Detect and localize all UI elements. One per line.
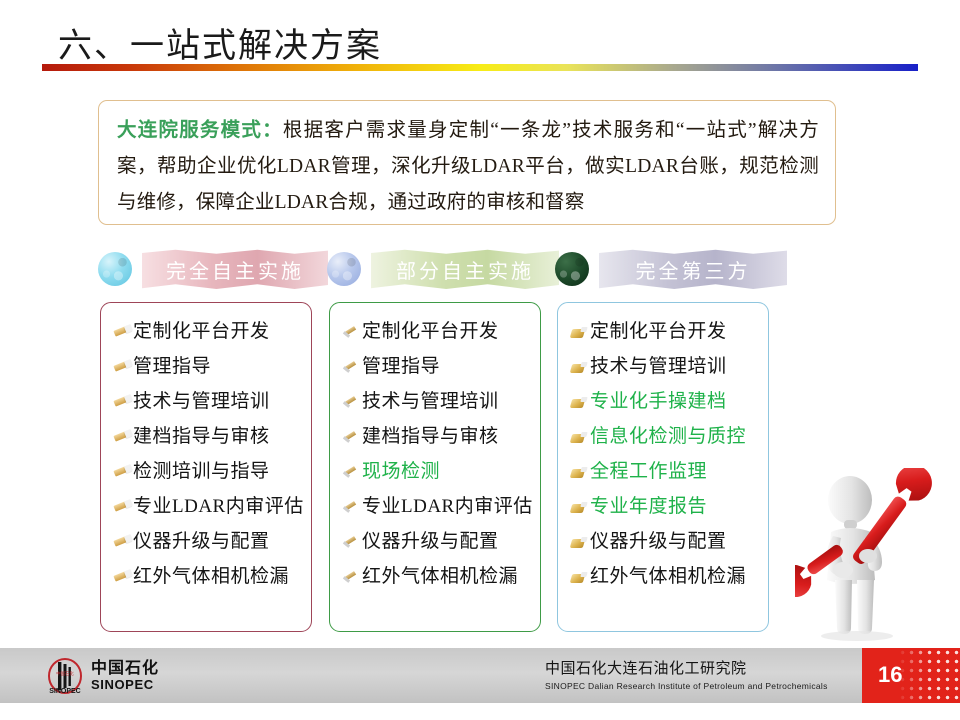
list-item-label: 建档指导与审核 [133,424,270,450]
logo-cn-label: 中国石化 [91,661,159,678]
dark-green-sphere-icon [555,252,589,286]
gold-block-icon [568,463,590,485]
list-item: 检测培训与指导 [111,459,303,494]
check-icon [340,533,362,555]
list-item: 专业LDAR内审评估 [340,494,532,529]
list-item-label: 建档指导与审核 [362,424,499,450]
list-item: 信息化检测与质控 [568,424,760,459]
sinopec-logo: 中国石化 SINOPEC 中国石化 SINOPEC [46,656,159,696]
gold-block-icon [568,533,590,555]
list-item: 仪器升级与配置 [568,529,760,564]
svg-text:中国石化: 中国石化 [56,670,74,677]
list-item: 专业化手操建档 [568,389,760,424]
list-item-label: 定制化平台开发 [133,319,270,345]
pencil-icon [111,393,133,415]
pencil-icon [111,568,133,590]
list-item-label: 管理指导 [133,354,211,380]
check-icon [340,568,362,590]
pencil-icon [111,323,133,345]
list-item: 红外气体相机检漏 [568,564,760,599]
banner-label-3: 完全第三方 [599,249,787,289]
list-item: 专业LDAR内审评估 [111,494,303,529]
service-model-callout: 大连院服务模式：根据客户需求量身定制“一条龙”技术服务和“一站式”解决方案，帮助… [98,100,836,225]
list-item-label: 仪器升级与配置 [590,529,727,555]
pencil-icon [111,358,133,380]
column-header-3: 完全第三方 [555,246,787,292]
list-item-label-highlight: 现场检测 [362,459,440,485]
list-item: 技术与管理培训 [568,354,760,389]
mannequin-with-wrench-illustration [795,468,935,643]
list-item: 仪器升级与配置 [340,529,532,564]
list-item-label: 红外气体相机检漏 [133,564,289,590]
callout-paragraph: 大连院服务模式：根据客户需求量身定制“一条龙”技术服务和“一站式”解决方案，帮助… [117,113,819,221]
institute-en-label: SINOPEC Dalian Research Institute of Pet… [545,681,828,691]
gold-block-icon [568,393,590,415]
page-number: 16 [878,662,902,688]
banner-label-2: 部分自主实施 [371,249,559,289]
list-item: 定制化平台开发 [568,319,760,354]
list-item: 管理指导 [111,354,303,389]
service-list-box-2: 定制化平台开发 管理指导 技术与管理培训 建档指导与审核 现场检测 专业LDAR… [329,302,541,632]
list-item: 建档指导与审核 [340,424,532,459]
halftone-dots-pattern [898,648,960,703]
callout-lead-label: 大连院服务模式： [117,120,283,141]
list-item-label: 专业LDAR内审评估 [133,494,304,520]
cyan-sphere-icon [98,252,132,286]
list-item-label: 管理指导 [362,354,440,380]
pencil-icon [111,463,133,485]
slide-header: 六、一站式解决方案 [0,0,960,80]
list-item-label-highlight: 专业年度报告 [590,494,707,520]
sinopec-emblem-icon: 中国石化 SINOPEC [46,656,84,696]
page-title: 六、一站式解决方案 [58,18,382,67]
institute-cn-label: 中国石化大连石油化工研究院 [545,657,828,678]
list-item-label: 仪器升级与配置 [362,529,499,555]
title-gradient-rule [42,64,918,71]
list-item: 仪器升级与配置 [111,529,303,564]
gold-block-icon [568,498,590,520]
banner-label-1: 完全自主实施 [142,249,328,289]
pencil-icon [111,428,133,450]
list-item-label: 定制化平台开发 [362,319,499,345]
page-number-badge: 16 [862,648,960,703]
gold-block-icon [568,428,590,450]
column-header-2: 部分自主实施 [327,246,559,292]
gold-block-icon [568,323,590,345]
list-item-label-highlight: 信息化检测与质控 [590,424,746,450]
check-icon [340,358,362,380]
list-item: 建档指导与审核 [111,424,303,459]
list-item-label: 技术与管理培训 [133,389,270,415]
blue-sphere-icon [327,252,361,286]
gold-block-icon [568,358,590,380]
list-item: 技术与管理培训 [111,389,303,424]
check-icon [340,463,362,485]
column-headers: 完全自主实施 部分自主实施 完全第三方 [0,246,960,292]
list-item-label: 专业LDAR内审评估 [362,494,533,520]
check-icon [340,428,362,450]
list-item: 红外气体相机检漏 [340,564,532,599]
list-item: 技术与管理培训 [340,389,532,424]
svg-text:SINOPEC: SINOPEC [49,688,81,695]
list-item-label: 检测培训与指导 [133,459,270,485]
service-list-box-3: 定制化平台开发 技术与管理培训 专业化手操建档 信息化检测与质控 全程工作监理 … [557,302,769,632]
column-header-1: 完全自主实施 [98,246,328,292]
list-item-label-highlight: 全程工作监理 [590,459,707,485]
list-item-label: 仪器升级与配置 [133,529,270,555]
list-item-label: 技术与管理培训 [590,354,727,380]
list-item: 定制化平台开发 [111,319,303,354]
list-item-label-highlight: 专业化手操建档 [590,389,727,415]
check-icon [340,323,362,345]
list-item-label: 红外气体相机检漏 [590,564,746,590]
gold-block-icon [568,568,590,590]
logo-en-label: SINOPEC [91,678,159,692]
pencil-icon [111,498,133,520]
institute-block: 中国石化大连石油化工研究院 SINOPEC Dalian Research In… [545,657,828,691]
list-item-label: 定制化平台开发 [590,319,727,345]
check-icon [340,393,362,415]
pencil-icon [111,533,133,555]
list-item-label: 技术与管理培训 [362,389,499,415]
list-item-label: 红外气体相机检漏 [362,564,518,590]
service-list-box-1: 定制化平台开发 管理指导 技术与管理培训 建档指导与审核 检测培训与指导 专业L… [100,302,312,632]
list-item: 专业年度报告 [568,494,760,529]
list-item: 管理指导 [340,354,532,389]
list-item: 现场检测 [340,459,532,494]
list-item: 定制化平台开发 [340,319,532,354]
check-icon [340,498,362,520]
list-item: 全程工作监理 [568,459,760,494]
list-item: 红外气体相机检漏 [111,564,303,599]
footer-bottom-strip [0,703,960,720]
